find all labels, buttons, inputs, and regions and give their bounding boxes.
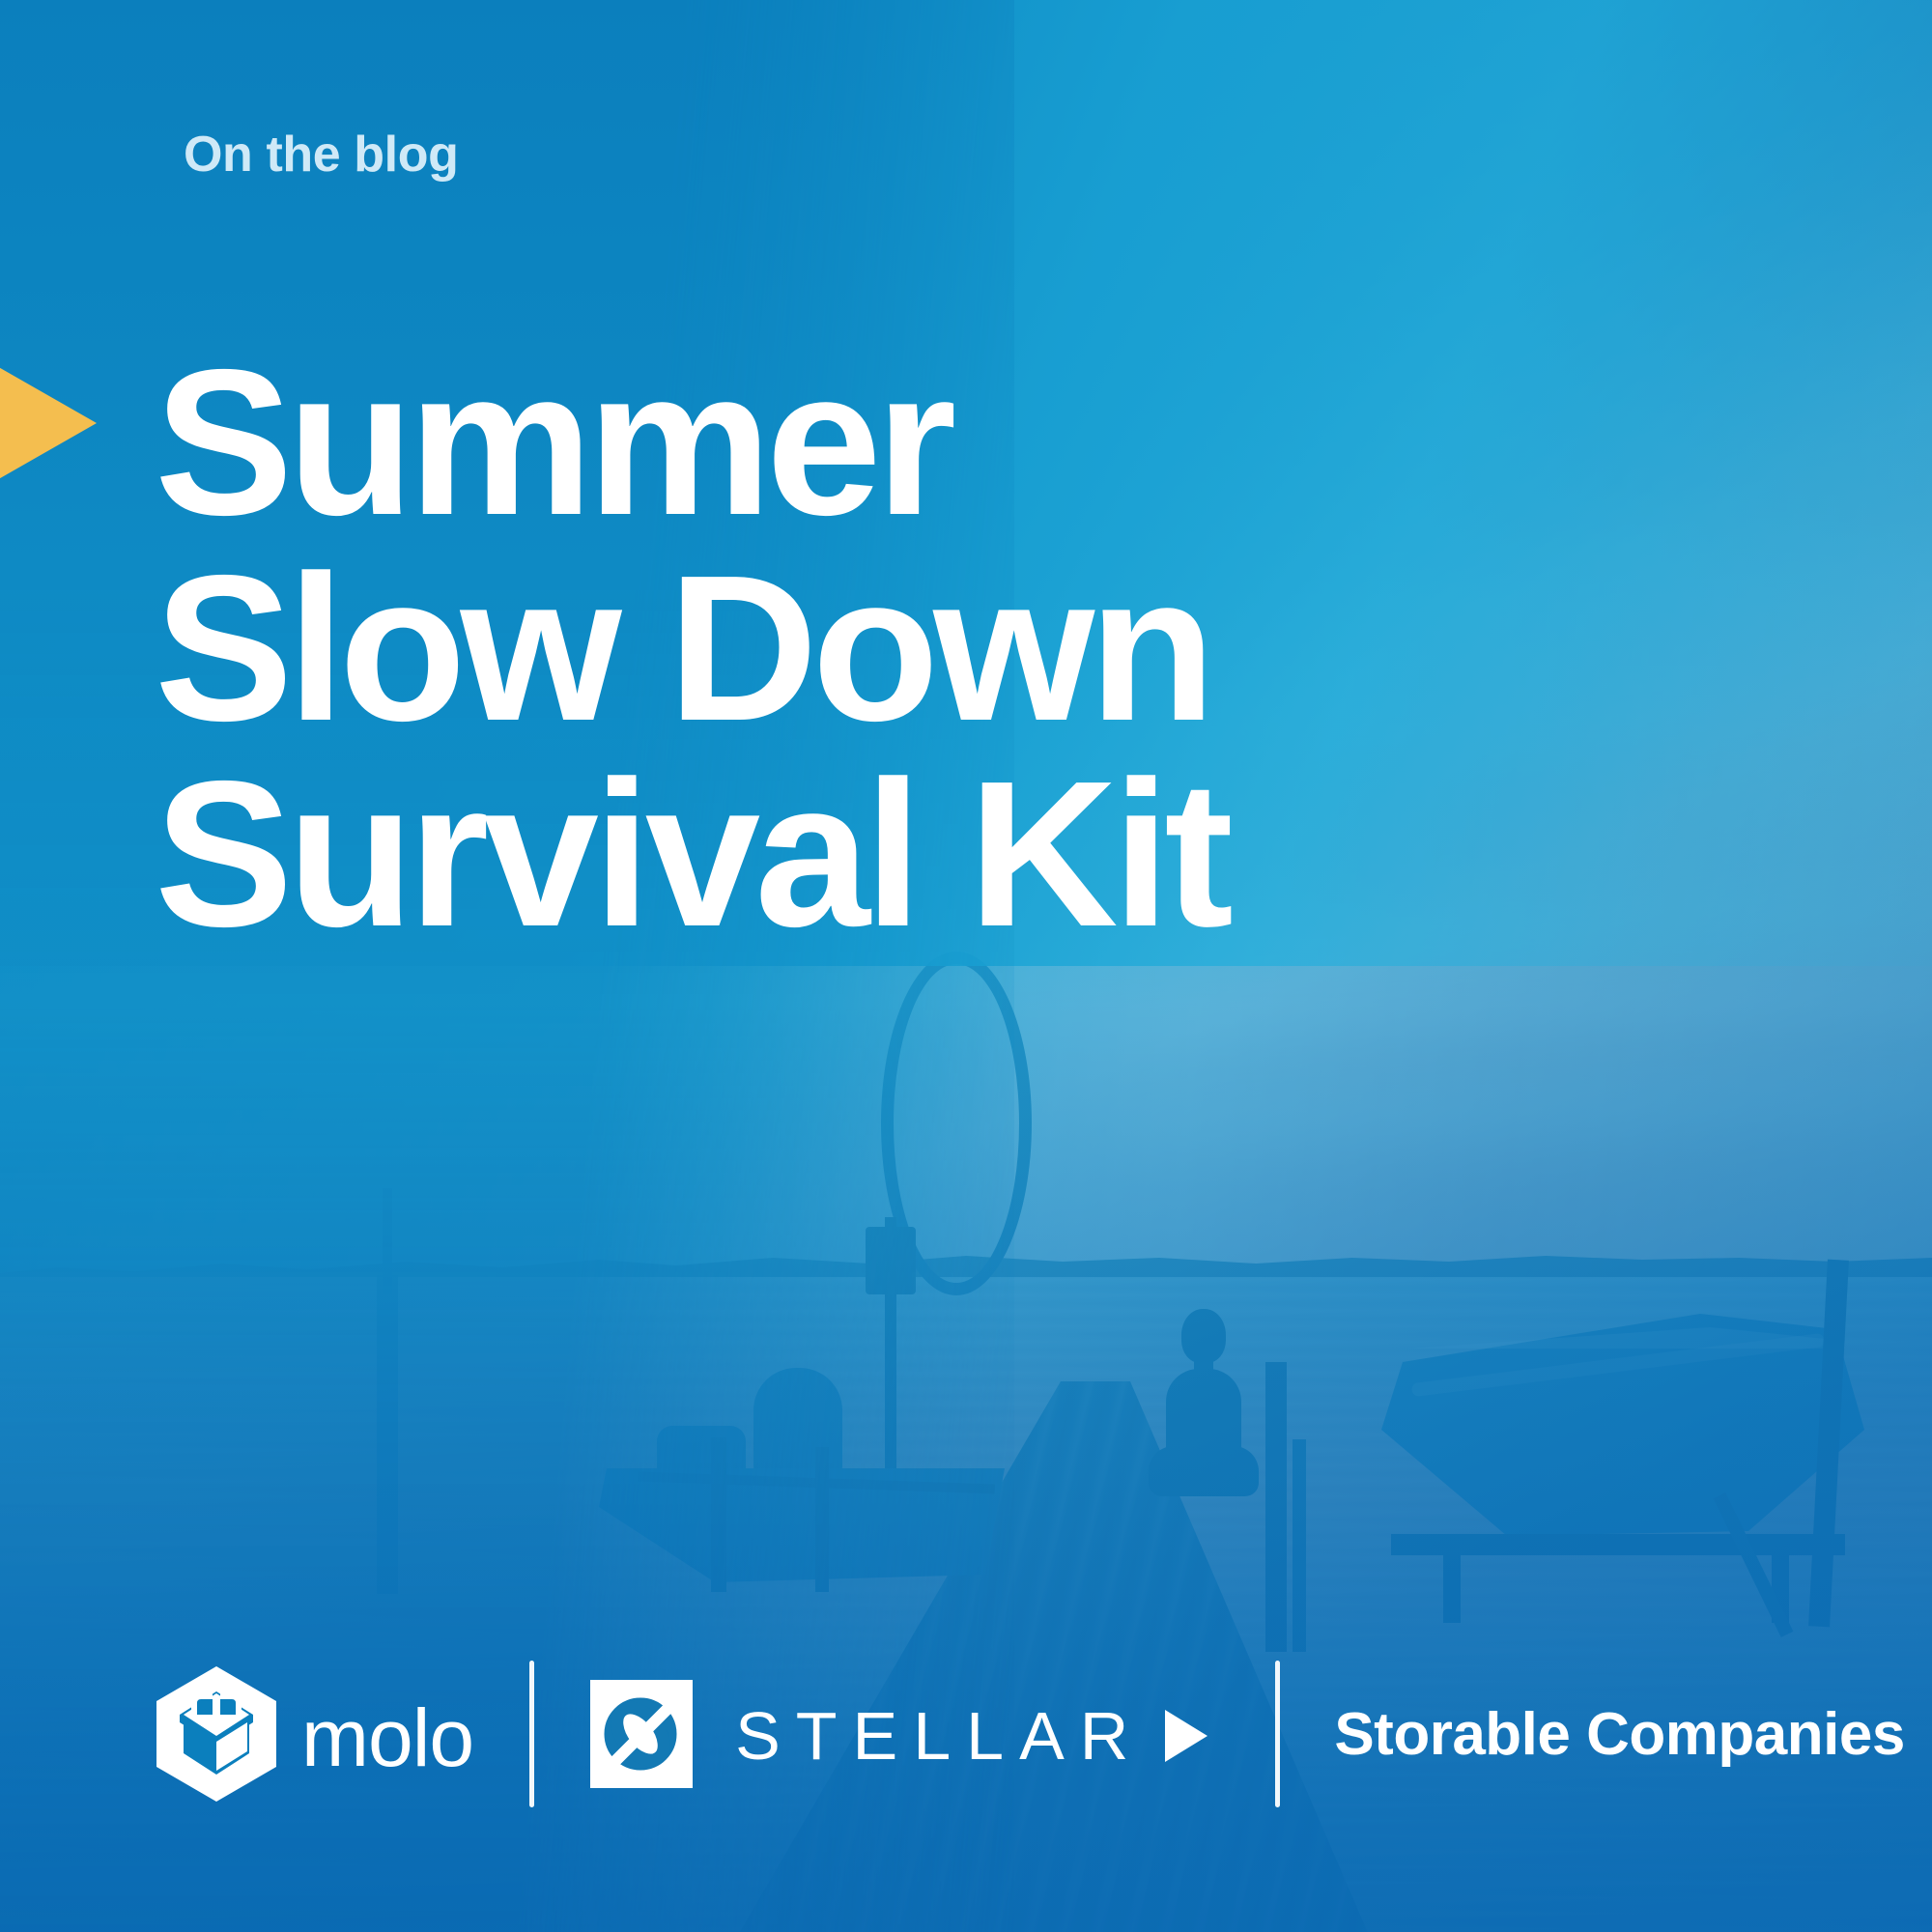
logo-divider bbox=[529, 1661, 534, 1807]
stellar-logo-lockup[interactable]: STELLAR bbox=[590, 1680, 1207, 1788]
headline-line-3: Survival Kit bbox=[155, 752, 1884, 957]
molo-logo-lockup[interactable]: molo bbox=[155, 1664, 473, 1804]
page-title: Summer Slow Down Survival Kit bbox=[155, 340, 1884, 957]
storable-companies-wordmark[interactable]: Storable Companies bbox=[1334, 1705, 1904, 1765]
card-content: On the blog Summer Slow Down Survival Ki… bbox=[0, 0, 1932, 1932]
promo-card: On the blog Summer Slow Down Survival Ki… bbox=[0, 0, 1932, 1932]
play-triangle-icon bbox=[1165, 1710, 1207, 1762]
molo-hexagon-icon bbox=[155, 1664, 278, 1804]
stellar-square-icon bbox=[590, 1680, 693, 1788]
headline-line-1: Summer bbox=[155, 340, 1884, 546]
eyebrow-label: On the blog bbox=[184, 126, 458, 184]
play-triangle-icon bbox=[0, 365, 97, 481]
molo-wordmark: molo bbox=[301, 1697, 473, 1778]
stellar-wordmark: STELLAR bbox=[735, 1702, 1144, 1770]
brand-logo-bar: molo STELLAR bbox=[155, 1647, 1905, 1821]
logo-divider bbox=[1275, 1661, 1280, 1807]
headline-line-2: Slow Down bbox=[155, 546, 1884, 752]
